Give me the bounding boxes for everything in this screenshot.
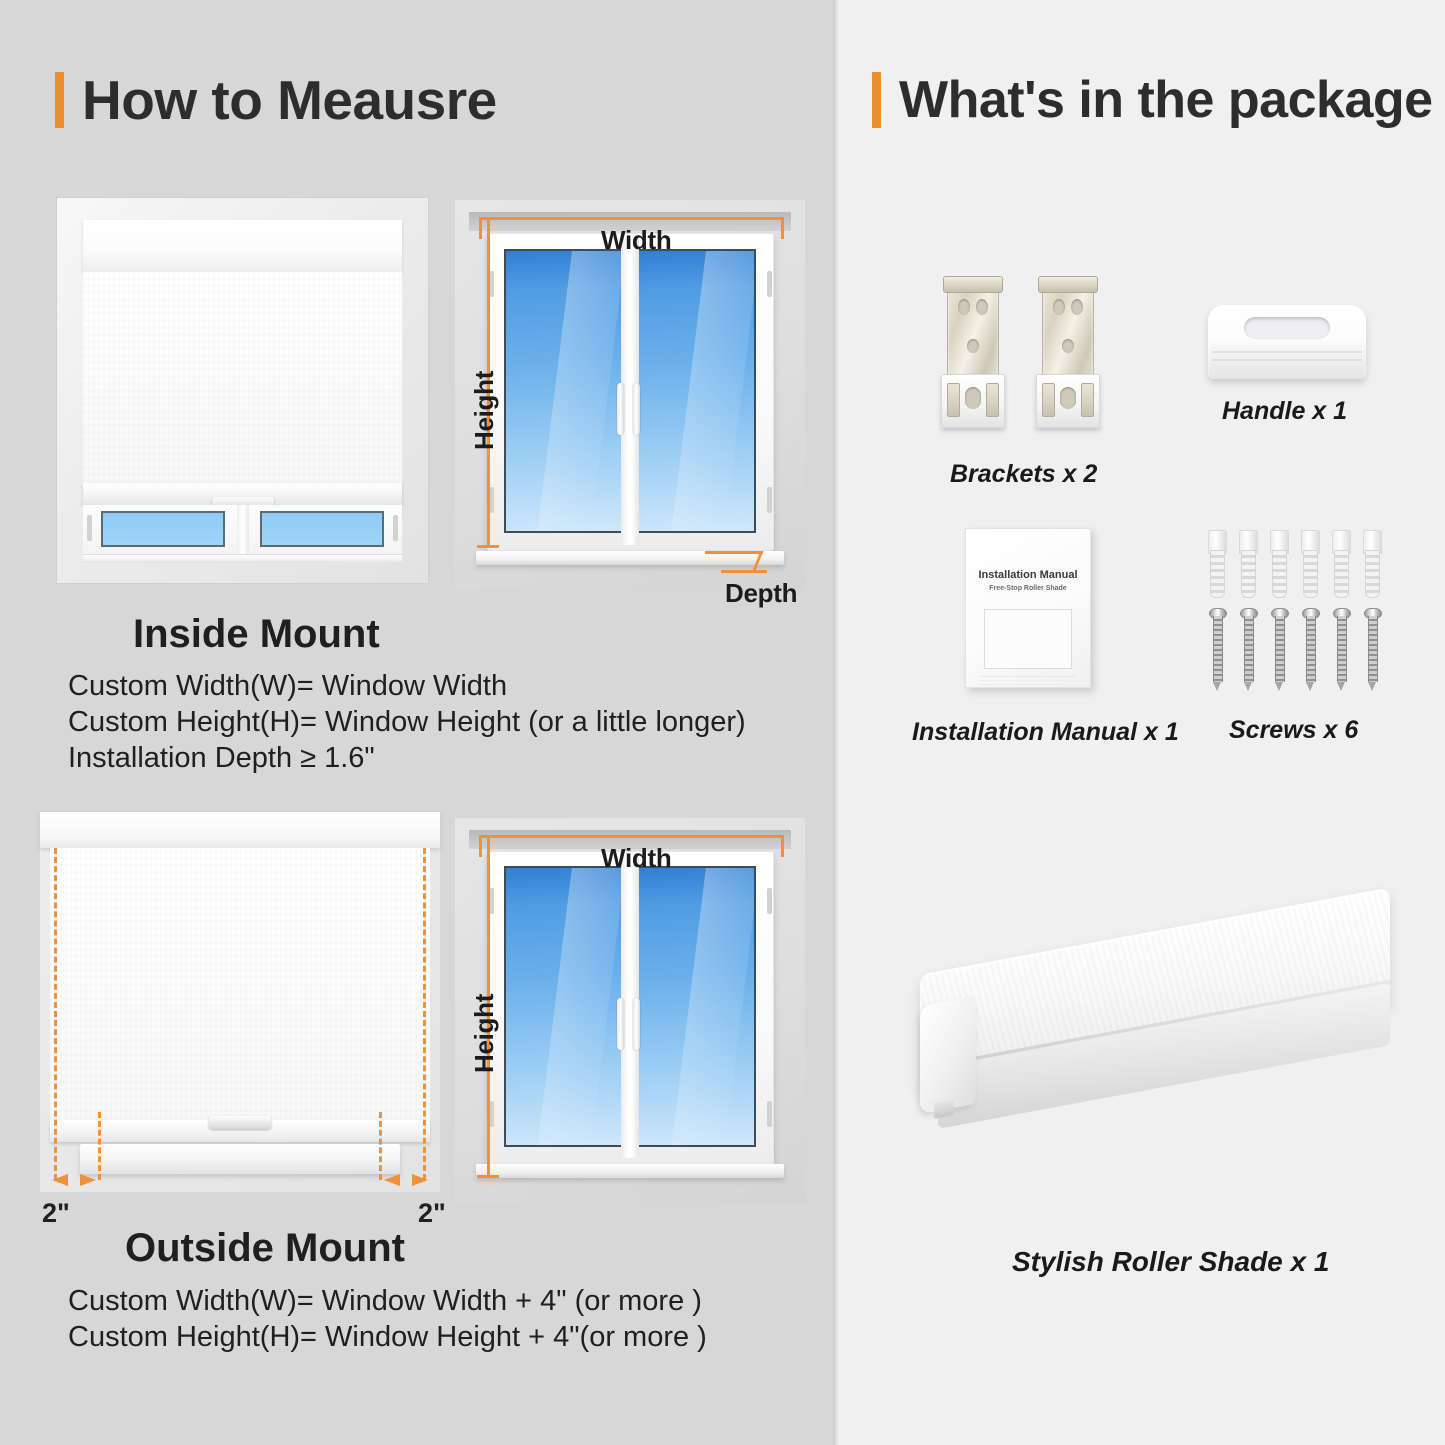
package-title: What's in the package [899,74,1433,126]
manual-label: Installation Manual x 1 [912,718,1179,747]
screws-label: Screws x 6 [1229,716,1358,745]
screw-icon-5 [1333,608,1349,690]
package-heading: What's in the package [872,72,1433,128]
bracket2-hole-2 [1071,299,1083,315]
outside-mount-line-1: Custom Width(W)= Window Width + 4" (or m… [68,1285,702,1318]
frame-hinge-br-icon-2 [767,1101,772,1127]
sash-mullion [237,505,249,561]
bracket-icon [941,276,1003,426]
window-handle-left-icon-2 [617,998,624,1050]
handle-groove-1 [1212,351,1362,353]
roller-shade-label: Stylish Roller Shade x 1 [1012,1246,1329,1278]
hinge-left-icon [87,515,92,541]
anchor-icon-3 [1270,530,1287,596]
outside-mount-line-2: Custom Height(H)= Window Height + 4"(or … [68,1321,707,1354]
overhang-guide-left [54,848,57,1180]
width-cap-right-2 [781,835,784,857]
bracket-hole-3 [967,339,979,353]
window-handle-left-icon [617,383,624,435]
outside-window-sill [80,1144,400,1174]
width-measure-line [479,217,784,220]
brackets-label: Brackets x 2 [950,460,1097,489]
window-recess [83,220,402,561]
bracket-mount-plate-2 [1036,374,1100,428]
window-glass-right [637,249,756,533]
outside-headrail [40,812,440,848]
bracket2-slot-left [1042,383,1055,417]
height-label: Height [469,371,500,450]
bracket-body [947,276,999,390]
width-cap-left [479,217,482,239]
handle-icon [1208,305,1366,379]
bracket-icon-2 [1036,276,1098,426]
inside-mount-line-1: Custom Width(W)= Window Width [68,670,507,703]
inside-mount-title: Inside Mount [133,612,380,657]
depth-label: Depth [725,578,797,609]
accent-bar-icon [55,72,64,128]
how-to-measure-title: How to Meausre [82,73,497,128]
width-cap-left-2 [479,835,482,857]
bracket-slot-right [986,383,999,417]
screw-icon-2 [1240,608,1256,690]
handle-label: Handle x 1 [1222,397,1347,426]
handle-grip-cutout [1244,317,1330,339]
outside-pull-tab-icon [209,1116,271,1129]
bracket-hole-1 [958,299,970,315]
inside-mount-shade-illustration [57,198,428,583]
anchor-icon-2 [1239,530,1256,596]
bracket-slot-left [947,383,960,417]
frame-hinge-tr-icon-2 [767,888,772,914]
bracket2-slot-right [1081,383,1094,417]
window-frame [487,233,774,551]
width-label-2: Width [601,843,671,874]
roller-shade-end-cap [920,996,976,1114]
inside-mount-line-3: Installation Depth ≥ 1.6" [68,742,375,775]
window-frame-2 [487,851,774,1165]
inside-mount-window-diagram: Width Height Depth [455,200,805,590]
manual-cover-image [984,609,1072,669]
wall-anchor-group [1208,530,1388,604]
overhang-right-label: 2" [418,1198,446,1229]
window-glass-left-2 [504,866,623,1146]
window-sill-ledge-2 [476,1164,784,1178]
bracket-center-hole [965,387,981,409]
bracket-hole-2 [976,299,988,315]
window-handle-right-icon-2 [633,998,640,1050]
manual-footer-lines [980,676,1076,677]
bracket-mount-plate [941,374,1005,428]
window-glass-left [504,249,623,533]
anchor-icon-1 [1208,530,1225,596]
height-cap-bottom-2 [477,1175,499,1178]
outside-mount-title: Outside Mount [125,1226,405,1271]
bracket2-hole-3 [1062,339,1074,353]
height-label-2: Height [469,994,500,1073]
window-handle-right-icon [633,383,640,435]
overhang-guide-right [423,848,426,1180]
anchor-icon-5 [1332,530,1349,596]
infographic-page: How to Meausre [0,0,1445,1445]
sash-glass-left [101,511,225,547]
anchor-icon-4 [1301,530,1318,596]
width-cap-right [781,217,784,239]
manual-cover-title: Installation Manual [966,569,1090,581]
overhang-left-label: 2" [42,1198,70,1229]
screw-icon-3 [1271,608,1287,690]
inside-mount-line-2: Custom Height(H)= Window Height (or a li… [68,706,746,739]
frame-hinge-tr-icon [767,271,772,297]
outside-bottom-rail [50,1120,430,1142]
bracket-body-2 [1042,276,1094,390]
overhang-inner-guide-right [379,1112,382,1180]
window-glass-right-2 [637,866,756,1146]
overhang-arrow-right [384,1174,428,1185]
handle-groove-2 [1212,359,1362,361]
bracket2-center-hole [1060,387,1076,409]
width-measure-line-2 [479,835,784,838]
anchor-icon-6 [1363,530,1380,596]
screw-icon-6 [1364,608,1380,690]
roller-shade-icon [920,905,1398,1195]
screw-group [1209,608,1389,694]
bracket-top-flange [943,276,1003,293]
hinge-right-icon [393,515,398,541]
outside-shade-fabric [50,848,430,1126]
sash-glass-right [260,511,384,547]
bottom-rail [83,483,402,505]
overhang-inner-guide-left [98,1112,101,1180]
bracket-top-flange-2 [1038,276,1098,293]
outside-mount-window-diagram: Width Height [455,818,805,1203]
how-to-measure-heading: How to Meausre [55,72,497,128]
window-sill [83,554,402,563]
bracket2-hole-1 [1053,299,1065,315]
manual-cover-subtitle: Free-Stop Roller Shade [966,585,1090,592]
screw-icon-1 [1209,608,1225,690]
screw-icon-4 [1302,608,1318,690]
headrail [83,220,402,273]
frame-hinge-br-icon [767,487,772,513]
height-cap-bottom [477,545,499,548]
width-label: Width [601,225,671,256]
outside-mount-shade-illustration [40,812,440,1192]
manual-icon: Installation Manual Free-Stop Roller Sha… [965,528,1091,688]
accent-bar-icon-2 [872,72,881,128]
lower-sash-area [83,505,402,561]
overhang-arrow-left [52,1174,96,1185]
depth-measure-mark [705,551,763,554]
shade-fabric [83,272,402,483]
